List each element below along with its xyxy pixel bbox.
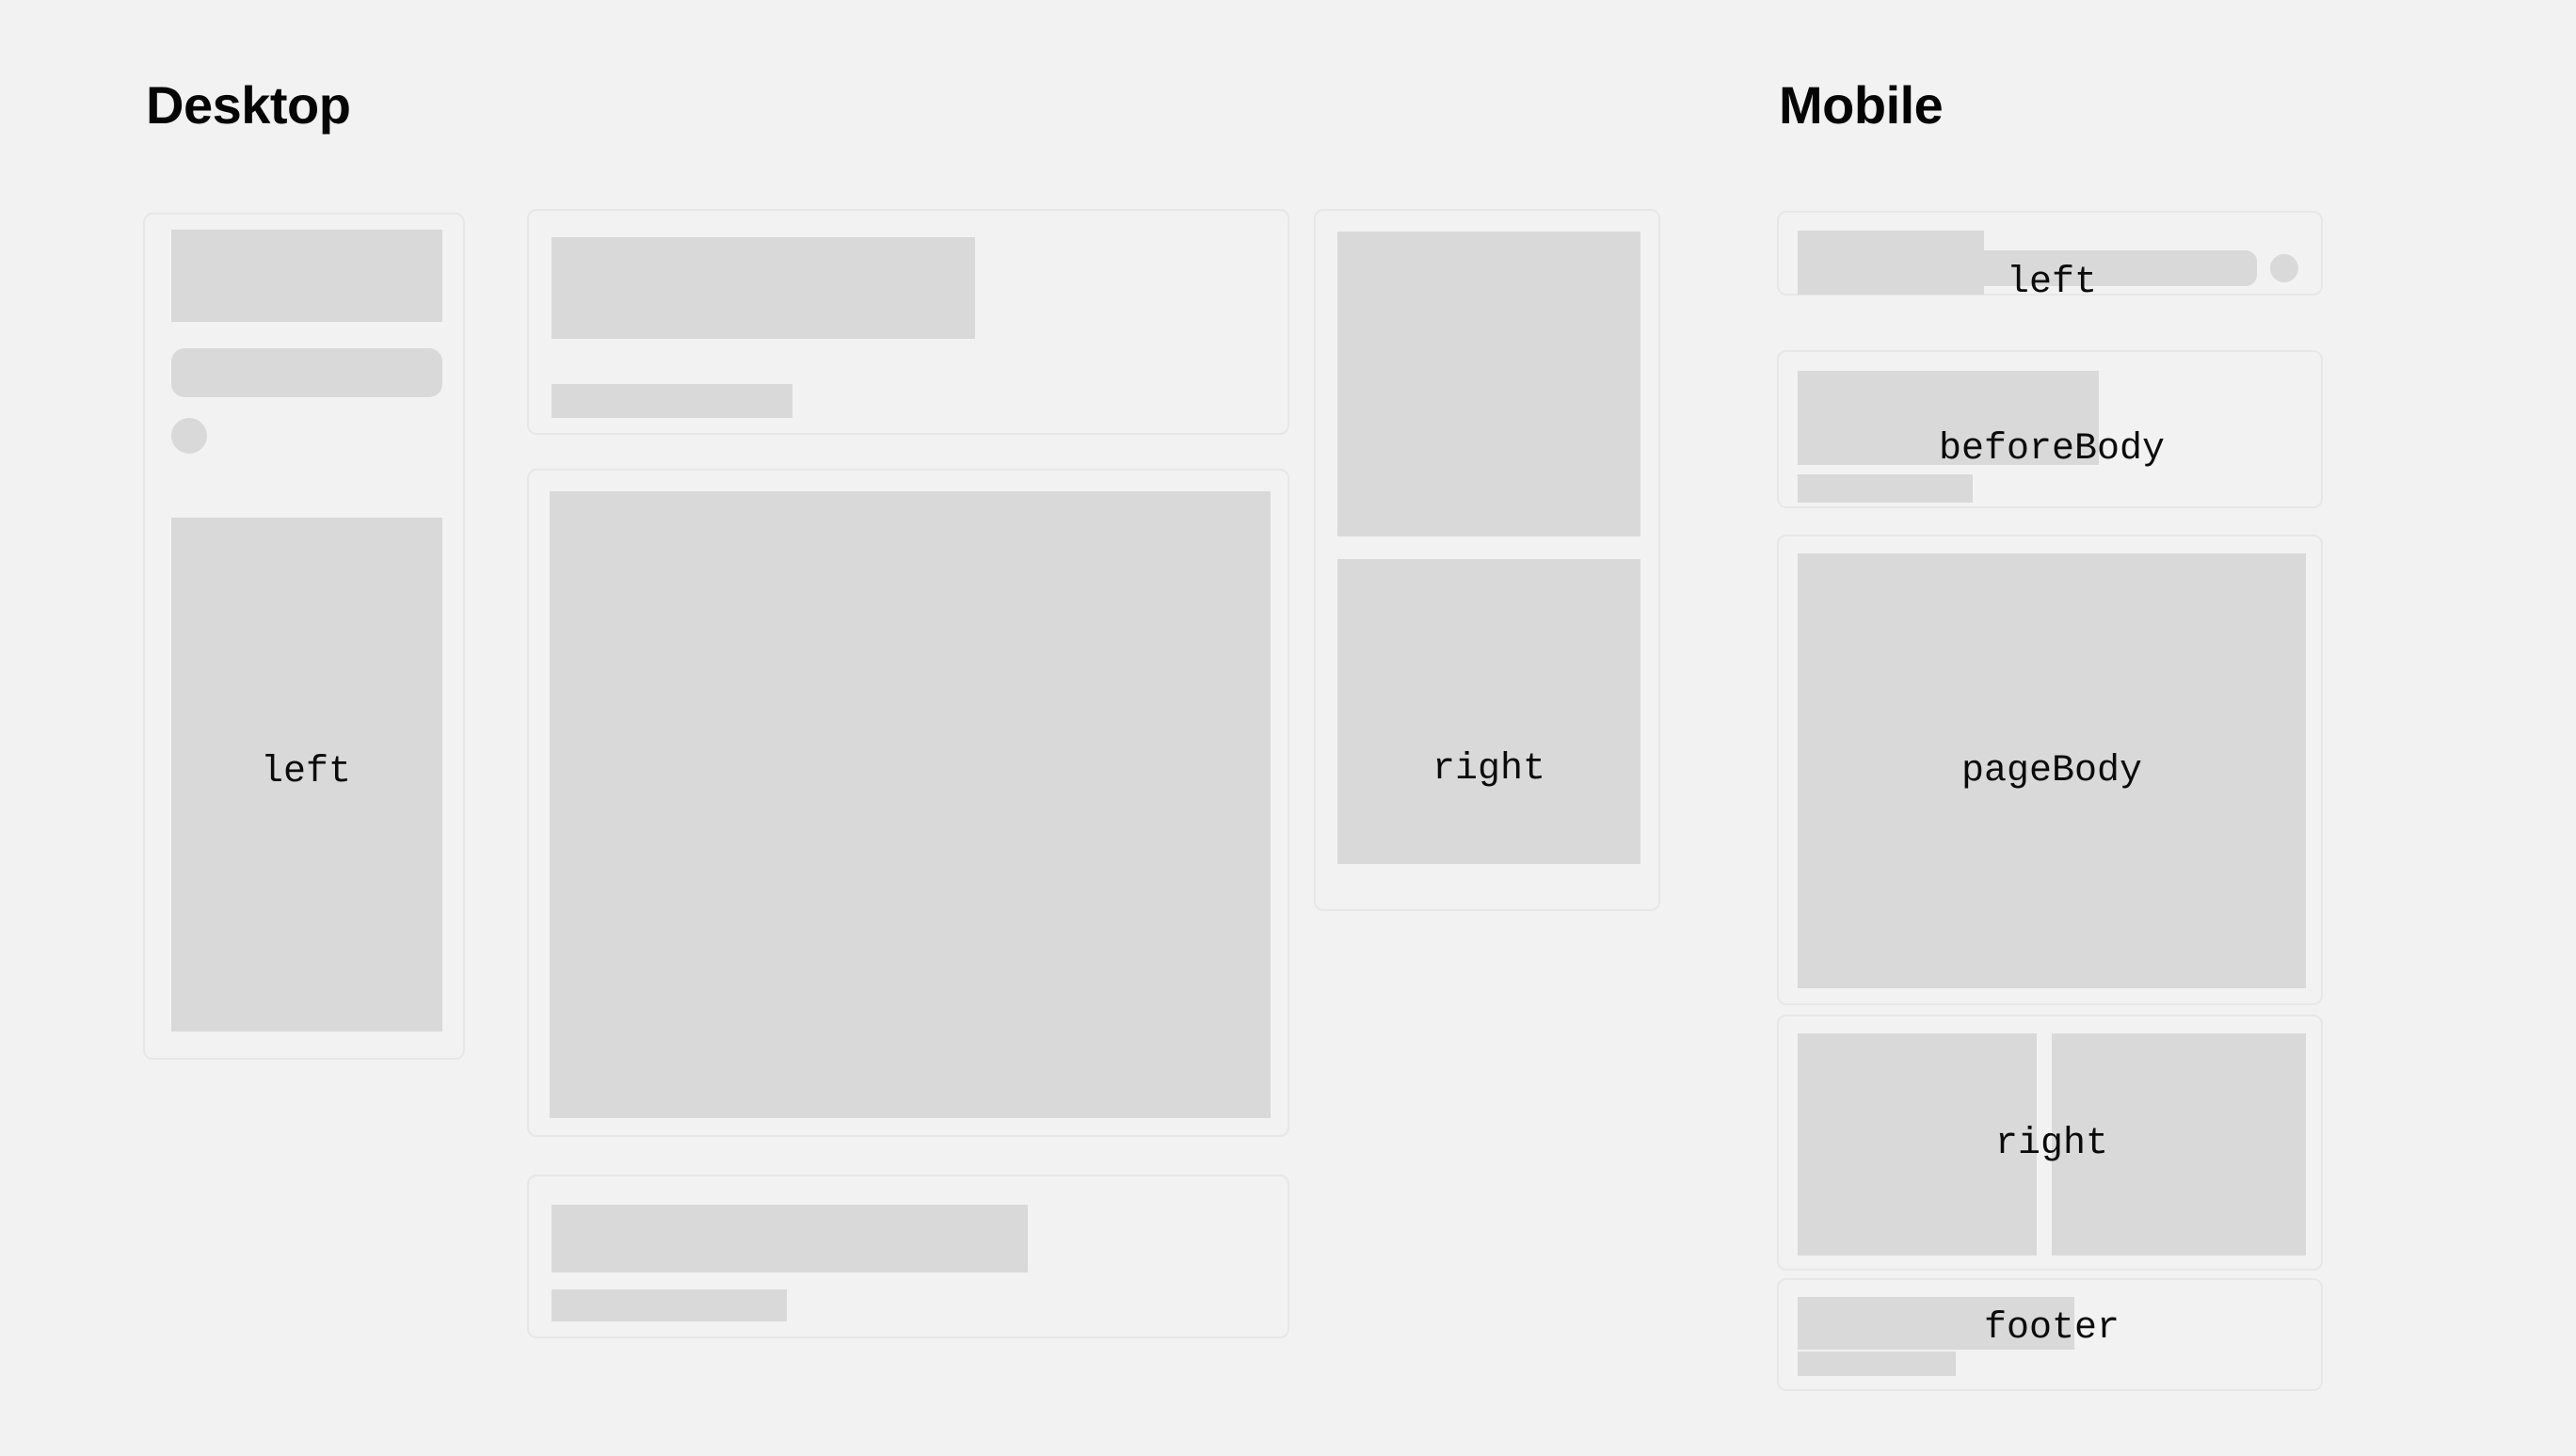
mobile-beforebody-block-primary (1798, 371, 2099, 465)
mobile-footer-block-primary (1798, 1297, 2074, 1350)
mobile-topbar-block-search (1984, 250, 2257, 286)
sidebar-block-header (171, 230, 442, 322)
desktop-before-body-panel[interactable]: beforeBody (527, 209, 1289, 435)
mobile-page-body-panel[interactable]: pageBody (1777, 535, 2323, 1005)
sidebar-block-nav (171, 518, 442, 1032)
desktop-page-body-panel[interactable]: pageBody (527, 469, 1289, 1137)
mobile-right-panel[interactable]: right (1777, 1015, 2323, 1271)
pagebody-block-main (550, 491, 1271, 1118)
mobile-before-body-panel[interactable]: beforeBody (1777, 350, 2323, 508)
mobile-right-block-left (1798, 1033, 2037, 1256)
desktop-footer-panel[interactable]: footer (527, 1175, 1289, 1338)
sidebar-block-search (171, 348, 442, 397)
mobile-topbar-avatar-dot (2270, 254, 2298, 282)
mobile-footer-block-secondary (1798, 1352, 1956, 1376)
desktop-left-sidebar-panel[interactable]: left (143, 213, 465, 1060)
mobile-pagebody-block-main (1798, 553, 2306, 988)
mobile-footer-panel[interactable]: footer (1777, 1278, 2323, 1391)
sidebar-avatar-dot (171, 418, 207, 454)
mobile-top-bar-panel[interactable]: left (1777, 211, 2323, 296)
right-block-bottom (1337, 559, 1640, 864)
beforebody-block-secondary (552, 384, 792, 418)
layout-preview-stage: Desktop left beforeBody pageBody right f… (0, 0, 2576, 1456)
mobile-topbar-block-logo (1798, 231, 1984, 295)
beforebody-block-primary (552, 237, 975, 339)
footer-block-primary (552, 1205, 1028, 1272)
desktop-right-panel[interactable]: right (1314, 209, 1660, 911)
right-block-top (1337, 232, 1640, 536)
desktop-section-title: Desktop (146, 79, 350, 132)
mobile-beforebody-block-secondary (1798, 474, 1973, 503)
mobile-right-block-right (2052, 1033, 2306, 1256)
footer-block-secondary (552, 1289, 787, 1321)
mobile-section-title: Mobile (1779, 79, 1943, 132)
